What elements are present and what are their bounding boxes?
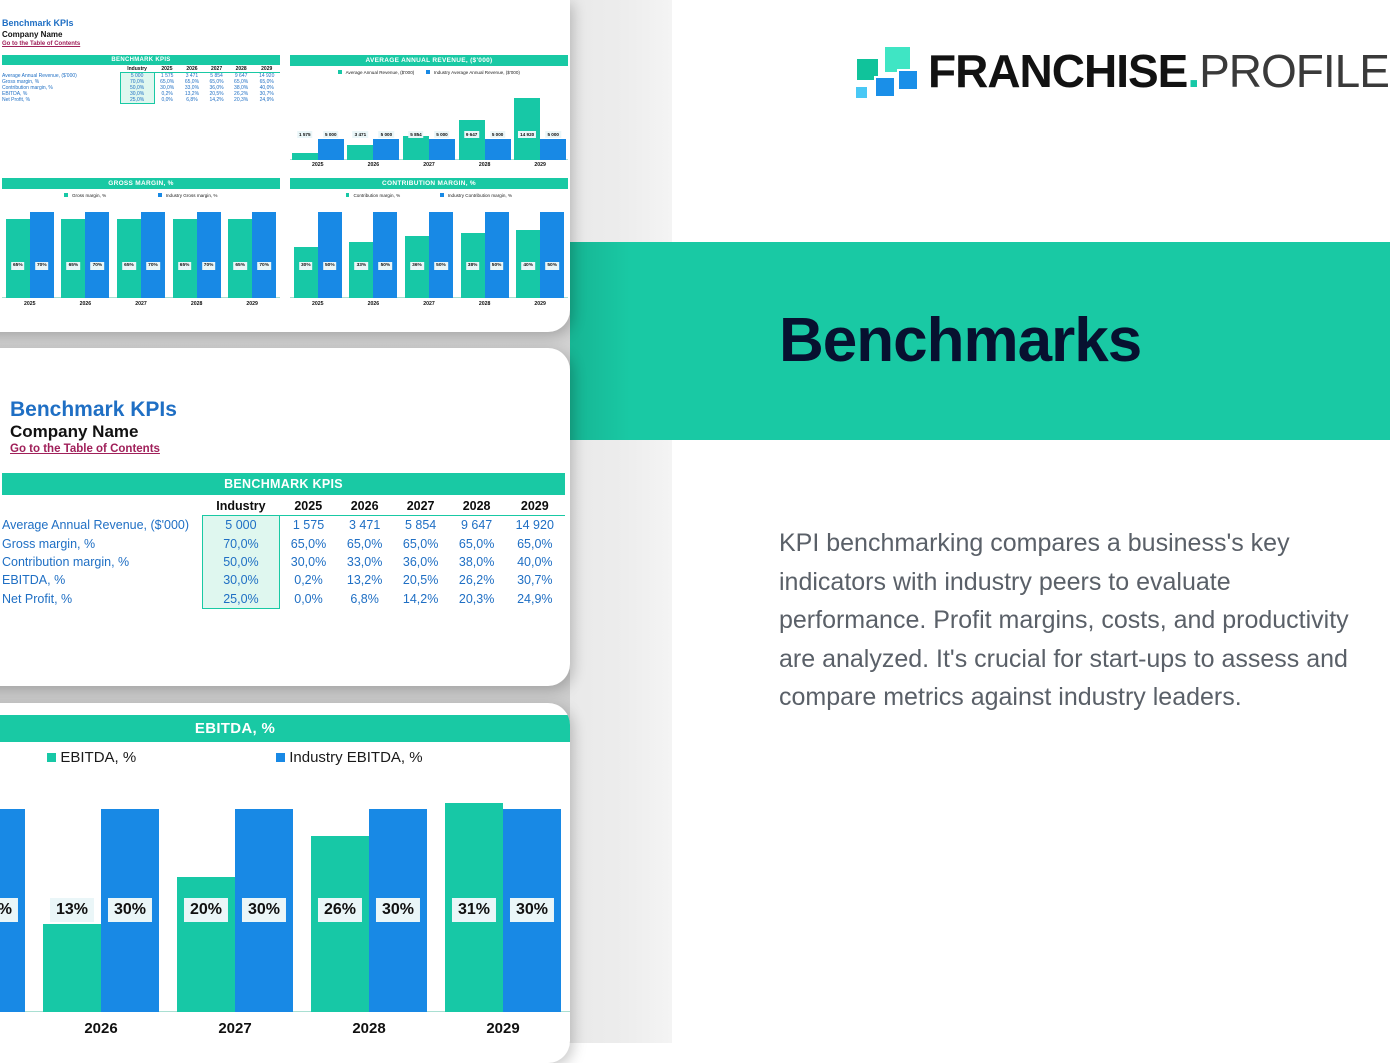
logo-wordmark: FRANCHISE.PROFILES bbox=[928, 48, 1390, 94]
legend-swatch-icon bbox=[426, 70, 430, 74]
table-row: Net Profit, %25,0%0,0%6,8%14,2%20,3%24,9… bbox=[2, 590, 565, 609]
chart-x-axis: 20252026202720282029 bbox=[290, 160, 568, 174]
sheet-title-small: Benchmark KPIs bbox=[2, 18, 74, 28]
chart-bar-label: 70% bbox=[146, 262, 160, 270]
table-cell: 24,9% bbox=[253, 97, 280, 104]
chart-bar-label: 30% bbox=[108, 898, 152, 922]
chart-bar-label: 30% bbox=[376, 898, 420, 922]
chart-group: 30%50% bbox=[290, 205, 346, 298]
table-cell: 3 471 bbox=[337, 516, 393, 535]
chart-bar-label: 36% bbox=[410, 262, 424, 270]
chart-bar: 30% bbox=[0, 809, 25, 1012]
table-cell: 24,9% bbox=[505, 590, 565, 609]
chart-bar-label: 65% bbox=[122, 262, 136, 270]
legend-swatch-icon bbox=[47, 753, 56, 762]
chart-bar-label: 5 854 bbox=[408, 131, 424, 138]
page-title: Benchmarks bbox=[779, 305, 1141, 376]
chart-group: 9 6475 000 bbox=[457, 80, 513, 160]
chart-x-tick: 2027 bbox=[401, 301, 457, 307]
chart-bar: 36% bbox=[405, 236, 429, 298]
chart-bar: 5 000 bbox=[373, 139, 399, 160]
table-cell: 30,7% bbox=[505, 571, 565, 589]
logo-dot: . bbox=[1187, 45, 1199, 97]
chart-legend: Contribution margin, %Industry Contribut… bbox=[290, 189, 568, 201]
chart-group: 38%50% bbox=[457, 205, 513, 298]
chart-group: 5 8545 000 bbox=[401, 80, 457, 160]
table-cell: 30,0% bbox=[202, 571, 280, 589]
legend-label: Industry EBITDA, % bbox=[289, 749, 422, 766]
chart-bar: 50% bbox=[373, 212, 397, 298]
chart-group: 0%30% bbox=[0, 794, 34, 1012]
chart-bar: 50% bbox=[485, 212, 509, 298]
legend-item: Industry Gross margin, % bbox=[158, 193, 217, 198]
table-cell: 25,0% bbox=[202, 590, 280, 609]
legend-swatch-icon bbox=[346, 193, 350, 197]
chart-bar-label: 30% bbox=[510, 898, 554, 922]
table-cell: 65,0% bbox=[280, 534, 337, 552]
table-row: Gross margin, %70,0%65,0%65,0%65,0%65,0%… bbox=[2, 534, 565, 552]
chart-plot-area: 65%70%65%70%65%70%65%70%65%70% bbox=[2, 205, 280, 298]
chart-bar: 30% bbox=[294, 247, 318, 298]
chart-group: 65%70% bbox=[2, 205, 58, 298]
table-cell: 6,8% bbox=[337, 590, 393, 609]
chart-plot-area: 30%50%33%50%36%50%38%50%40%50% bbox=[290, 205, 568, 298]
legend-label: Industry Gross margin, % bbox=[166, 193, 218, 198]
chart-bar-label: 50% bbox=[490, 262, 504, 270]
table-cell: 14 920 bbox=[505, 516, 565, 535]
table-col-industry: Industry bbox=[202, 497, 280, 516]
legend-item: Industry Average Annual Revenue, ($'000) bbox=[426, 70, 520, 75]
sheet-company: Company Name bbox=[10, 422, 138, 442]
chart-title: CONTRIBUTION MARGIN, % bbox=[290, 178, 568, 189]
chart-group: 65%70% bbox=[113, 205, 169, 298]
chart-x-tick: 2029 bbox=[436, 1020, 570, 1037]
chart-group: 65%70% bbox=[224, 205, 280, 298]
legend-swatch-icon bbox=[338, 70, 342, 74]
chart-bar: 26% bbox=[311, 836, 369, 1012]
table-cell: 9 647 bbox=[449, 516, 505, 535]
sheet-top-inner: Benchmark KPIs Company Name Go to the Ta… bbox=[0, 0, 570, 332]
legend-swatch-icon bbox=[158, 193, 162, 197]
chart-bar-label: 5 000 bbox=[379, 131, 395, 138]
chart-x-axis: 20252026202720282029 bbox=[2, 298, 280, 314]
table-cell: 65,0% bbox=[449, 534, 505, 552]
chart-bar-label: 30% bbox=[0, 898, 18, 922]
chart-group: 65%70% bbox=[169, 205, 225, 298]
legend-swatch-icon bbox=[276, 753, 285, 762]
chart-x-tick: 2026 bbox=[346, 162, 402, 168]
chart-group: 40%50% bbox=[512, 205, 568, 298]
chart-x-tick: 2029 bbox=[512, 301, 568, 307]
chart-x-tick: 2027 bbox=[401, 162, 457, 168]
chart-group: 26%30% bbox=[302, 794, 436, 1012]
chart-bar-label: 50% bbox=[434, 262, 448, 270]
legend-swatch-icon bbox=[64, 193, 68, 197]
table-cell: 30,0% bbox=[280, 553, 337, 571]
legend-label: EBITDA, % bbox=[60, 749, 136, 766]
chart-bar-label: 65% bbox=[233, 262, 247, 270]
chart-x-tick: 2025 bbox=[2, 301, 58, 307]
chart-bar: 70% bbox=[252, 212, 276, 298]
chart-group: 36%50% bbox=[401, 205, 457, 298]
chart-group: 14 9205 000 bbox=[512, 80, 568, 160]
dashboard-sheet-card-top: Benchmark KPIs Company Name Go to the Ta… bbox=[0, 0, 570, 332]
table-cell: 5 000 bbox=[202, 516, 280, 535]
table-row: Average Annual Revenue, ($'000)5 0001 57… bbox=[2, 516, 565, 535]
chart-x-tick: 2028 bbox=[457, 162, 513, 168]
table-cell: 38,0% bbox=[449, 553, 505, 571]
chart-plot-area: 1 5755 0003 4715 0005 8545 0009 6475 000… bbox=[290, 80, 568, 160]
chart-bar-label: 5 000 bbox=[434, 131, 450, 138]
chart-bar-label: 38% bbox=[466, 262, 480, 270]
chart-bar: 70% bbox=[141, 212, 165, 298]
table-cell: 5 854 bbox=[393, 516, 449, 535]
toc-link-small[interactable]: Go to the Table of Contents bbox=[2, 41, 80, 47]
table-cell: 14,2% bbox=[393, 590, 449, 609]
chart-group: 13%30% bbox=[34, 794, 168, 1012]
table-cell: 6,8% bbox=[180, 97, 205, 104]
chart-group: 20%30% bbox=[168, 794, 302, 1012]
sheet-bottom-inner: EBITDA, %EBITDA, %Industry EBITDA, %0%30… bbox=[0, 703, 570, 1063]
chart-x-tick: 2027 bbox=[168, 1020, 302, 1037]
chart-bar: 5 854 bbox=[403, 136, 429, 160]
sheet-company-small: Company Name bbox=[2, 30, 62, 39]
franchise-profiles-logo[interactable]: FRANCHISE.PROFILES bbox=[852, 45, 1390, 97]
chart-bar: 31% bbox=[445, 803, 503, 1012]
chart-bar: 30% bbox=[101, 809, 159, 1012]
chart-x-tick: 2027 bbox=[113, 301, 169, 307]
chart-bar-label: 70% bbox=[91, 262, 105, 270]
table-cell: 65,0% bbox=[393, 534, 449, 552]
dashboard-sheet-card-middle: Benchmark KPIs Company Name Go to the Ta… bbox=[0, 348, 570, 686]
table-row-label: EBITDA, % bbox=[2, 571, 202, 589]
chart-legend: Gross margin, %Industry Gross margin, % bbox=[2, 189, 280, 201]
table-row-label: Average Annual Revenue, ($'000) bbox=[2, 516, 202, 535]
chart-bar-label: 20% bbox=[184, 898, 228, 922]
legend-label: Contribution margin, % bbox=[353, 193, 400, 198]
chart-bar: 30% bbox=[235, 809, 293, 1012]
legend-item: Gross margin, % bbox=[64, 193, 106, 198]
legend-label: Industry Average Annual Revenue, ($'000) bbox=[434, 70, 520, 75]
table-cell: 0,0% bbox=[154, 97, 179, 104]
chart-gross-margin-small: GROSS MARGIN, %Gross margin, %Industry G… bbox=[2, 178, 280, 313]
table-cell: 25,0% bbox=[120, 97, 154, 104]
legend-item: Average Annual Revenue, ($'000) bbox=[338, 70, 414, 75]
chart-bar-label: 13% bbox=[50, 898, 94, 922]
chart-bar: 65% bbox=[117, 219, 141, 298]
chart-bar: 40% bbox=[516, 230, 540, 298]
chart-legend: EBITDA, %Industry EBITDA, % bbox=[0, 742, 570, 772]
chart-bar: 50% bbox=[540, 212, 564, 298]
chart-x-tick: 2029 bbox=[224, 301, 280, 307]
sheet-title: Benchmark KPIs bbox=[10, 398, 177, 422]
chart-bar: 65% bbox=[61, 219, 85, 298]
chart-bar: 50% bbox=[429, 212, 453, 298]
table-row: Contribution margin, %50,0%30,0%33,0%36,… bbox=[2, 553, 565, 571]
chart-bar-label: 70% bbox=[202, 262, 216, 270]
table-col-2029: 2029 bbox=[505, 497, 565, 516]
logo-word-franchise: FRANCHISE bbox=[928, 45, 1187, 97]
table-col-2028: 2028 bbox=[449, 497, 505, 516]
table-header-row: Industry20252026202720282029 bbox=[2, 497, 565, 516]
kpi-band-small: BENCHMARK KPIS bbox=[2, 55, 280, 65]
toc-link[interactable]: Go to the Table of Contents bbox=[10, 443, 160, 455]
kpi-table: Industry20252026202720282029Average Annu… bbox=[2, 497, 565, 609]
chart-bar: 65% bbox=[228, 219, 252, 298]
chart-bar: 38% bbox=[461, 233, 485, 298]
chart-bar: 20% bbox=[177, 877, 235, 1012]
green-band-shadow bbox=[570, 242, 630, 440]
table-cell: 65,0% bbox=[337, 534, 393, 552]
chart-x-tick: 2025 bbox=[290, 162, 346, 168]
chart-x-tick: 2026 bbox=[34, 1020, 168, 1037]
chart-bar-label: 65% bbox=[11, 262, 25, 270]
table-cell: 0,0% bbox=[280, 590, 337, 609]
table-cell: 70,0% bbox=[202, 534, 280, 552]
legend-item: Industry EBITDA, % bbox=[276, 749, 422, 766]
chart-group: 65%70% bbox=[58, 205, 114, 298]
table-cell: 40,0% bbox=[505, 553, 565, 571]
logo-square-blue-right bbox=[897, 69, 919, 91]
chart-title: AVERAGE ANNUAL REVENUE, ($'000) bbox=[290, 55, 568, 66]
chart-group: 31%30% bbox=[436, 794, 570, 1012]
chart-x-axis: 20252026202720282029 bbox=[0, 1012, 570, 1046]
kpi-table-small: Industry20252026202720282029Average Annu… bbox=[2, 66, 280, 104]
chart-bar: 65% bbox=[173, 219, 197, 298]
chart-bar-label: 5 000 bbox=[323, 131, 339, 138]
table-corner-cell bbox=[2, 497, 202, 516]
chart-bar: 50% bbox=[318, 212, 342, 298]
table-cell: 65,0% bbox=[505, 534, 565, 552]
table-row-label: Gross margin, % bbox=[2, 534, 202, 552]
chart-bar: 1 575 bbox=[292, 153, 318, 160]
chart-bar-label: 5 000 bbox=[545, 131, 561, 138]
chart-bar: 30% bbox=[369, 809, 427, 1012]
chart-bar-label: 1 575 bbox=[297, 131, 313, 138]
sheet-mid-inner: Benchmark KPIs Company Name Go to the Ta… bbox=[0, 348, 570, 686]
table-col-2026: 2026 bbox=[337, 497, 393, 516]
chart-bar: 14 920 bbox=[514, 98, 540, 160]
chart-bar: 9 647 bbox=[459, 120, 485, 160]
chart-bar-label: 65% bbox=[67, 262, 81, 270]
chart-group: 1 5755 000 bbox=[290, 80, 346, 160]
logo-word-profiles: PROFILES bbox=[1199, 45, 1390, 97]
chart-bar-label: 50% bbox=[379, 262, 393, 270]
legend-item: EBITDA, % bbox=[47, 749, 136, 766]
chart-bar-label: 30% bbox=[299, 262, 313, 270]
chart-bar-label: 50% bbox=[323, 262, 337, 270]
kpi-band: BENCHMARK KPIS bbox=[2, 473, 565, 495]
table-cell: 20,3% bbox=[229, 97, 254, 104]
center-gray-strip bbox=[570, 0, 672, 1043]
chart-bar: 5 000 bbox=[485, 139, 511, 160]
legend-item: Industry Contribution margin, % bbox=[440, 193, 512, 198]
chart-bar-label: 31% bbox=[452, 898, 496, 922]
dashboard-sheet-card-bottom: EBITDA, %EBITDA, %Industry EBITDA, %0%30… bbox=[0, 703, 570, 1063]
chart-legend: Average Annual Revenue, ($'000)Industry … bbox=[290, 66, 568, 78]
chart-bar-label: 70% bbox=[257, 262, 271, 270]
chart-x-tick: 2028 bbox=[302, 1020, 436, 1037]
chart-bar: 70% bbox=[30, 212, 54, 298]
chart-bar: 5 000 bbox=[318, 139, 344, 160]
chart-ebitda: EBITDA, %EBITDA, %Industry EBITDA, %0%30… bbox=[0, 715, 570, 1045]
chart-average-annual-revenue-small: AVERAGE ANNUAL REVENUE, ($'000)Average A… bbox=[290, 55, 568, 173]
chart-bar: 5 000 bbox=[429, 139, 455, 160]
table-cell: 14,2% bbox=[204, 97, 229, 104]
chart-contribution-margin-small: CONTRIBUTION MARGIN, %Contribution margi… bbox=[290, 178, 568, 313]
chart-bar: 3 471 bbox=[347, 145, 373, 160]
chart-title: GROSS MARGIN, % bbox=[2, 178, 280, 189]
logo-square-blue-light bbox=[854, 85, 869, 100]
table-cell: 13,2% bbox=[337, 571, 393, 589]
legend-label: Gross margin, % bbox=[72, 193, 106, 198]
chart-bar-label: 5 000 bbox=[490, 131, 506, 138]
chart-bar-label: 14 920 bbox=[518, 131, 536, 138]
chart-title: EBITDA, % bbox=[0, 715, 570, 742]
table-cell: 33,0% bbox=[337, 553, 393, 571]
table-col-2027: 2027 bbox=[393, 497, 449, 516]
chart-bar: 65% bbox=[6, 219, 30, 298]
chart-x-tick: 2026 bbox=[346, 301, 402, 307]
legend-label: Average Annual Revenue, ($'000) bbox=[346, 70, 415, 75]
chart-bar-label: 3 471 bbox=[353, 131, 369, 138]
chart-bar-label: 50% bbox=[545, 262, 559, 270]
table-row: Net Profit, %25,0%0,0%6,8%14,2%20,3%24,9… bbox=[2, 97, 280, 104]
chart-plot-area: 0%30%13%30%20%30%26%30%31%30% bbox=[0, 794, 570, 1012]
legend-swatch-icon bbox=[440, 193, 444, 197]
table-cell: 20,5% bbox=[393, 571, 449, 589]
chart-x-tick: 2026 bbox=[58, 301, 114, 307]
table-cell: 1 575 bbox=[280, 516, 337, 535]
chart-x-tick: 2029 bbox=[512, 162, 568, 168]
chart-bar-label: 65% bbox=[178, 262, 192, 270]
chart-bar-label: 26% bbox=[318, 898, 362, 922]
chart-group: 33%50% bbox=[346, 205, 402, 298]
table-row-label: Net Profit, % bbox=[2, 97, 120, 104]
table-cell: 0,2% bbox=[280, 571, 337, 589]
table-cell: 26,2% bbox=[449, 571, 505, 589]
chart-bar: 30% bbox=[503, 809, 561, 1012]
chart-x-tick: 2025 bbox=[0, 1020, 34, 1037]
chart-x-tick: 2028 bbox=[457, 301, 513, 307]
page-description: KPI benchmarking compares a business's k… bbox=[779, 524, 1351, 717]
chart-bar: 13% bbox=[43, 924, 101, 1012]
chart-group: 3 4715 000 bbox=[346, 80, 402, 160]
table-row: EBITDA, %30,0%0,2%13,2%20,5%26,2%30,7% bbox=[2, 571, 565, 589]
chart-x-axis: 20252026202720282029 bbox=[290, 298, 568, 314]
table-cell: 50,0% bbox=[202, 553, 280, 571]
chart-x-tick: 2025 bbox=[290, 301, 346, 307]
chart-bar: 70% bbox=[85, 212, 109, 298]
chart-bar-label: 9 647 bbox=[464, 131, 480, 138]
chart-bar: 70% bbox=[197, 212, 221, 298]
legend-label: Industry Contribution margin, % bbox=[448, 193, 512, 198]
table-cell: 20,3% bbox=[449, 590, 505, 609]
chart-bar: 33% bbox=[349, 242, 373, 298]
table-cell: 36,0% bbox=[393, 553, 449, 571]
table-row-label: Contribution margin, % bbox=[2, 553, 202, 571]
chart-x-tick: 2028 bbox=[169, 301, 225, 307]
chart-bar-label: 30% bbox=[242, 898, 286, 922]
table-row-label: Net Profit, % bbox=[2, 590, 202, 609]
chart-bar-label: 33% bbox=[355, 262, 369, 270]
logo-square-blue-mid bbox=[874, 76, 896, 98]
table-col-2025: 2025 bbox=[280, 497, 337, 516]
chart-bar-label: 40% bbox=[521, 262, 535, 270]
chart-bar-label: 70% bbox=[35, 262, 49, 270]
legend-item: Contribution margin, % bbox=[346, 193, 400, 198]
chart-bar: 5 000 bbox=[540, 139, 566, 160]
logo-squares-icon bbox=[852, 45, 914, 97]
